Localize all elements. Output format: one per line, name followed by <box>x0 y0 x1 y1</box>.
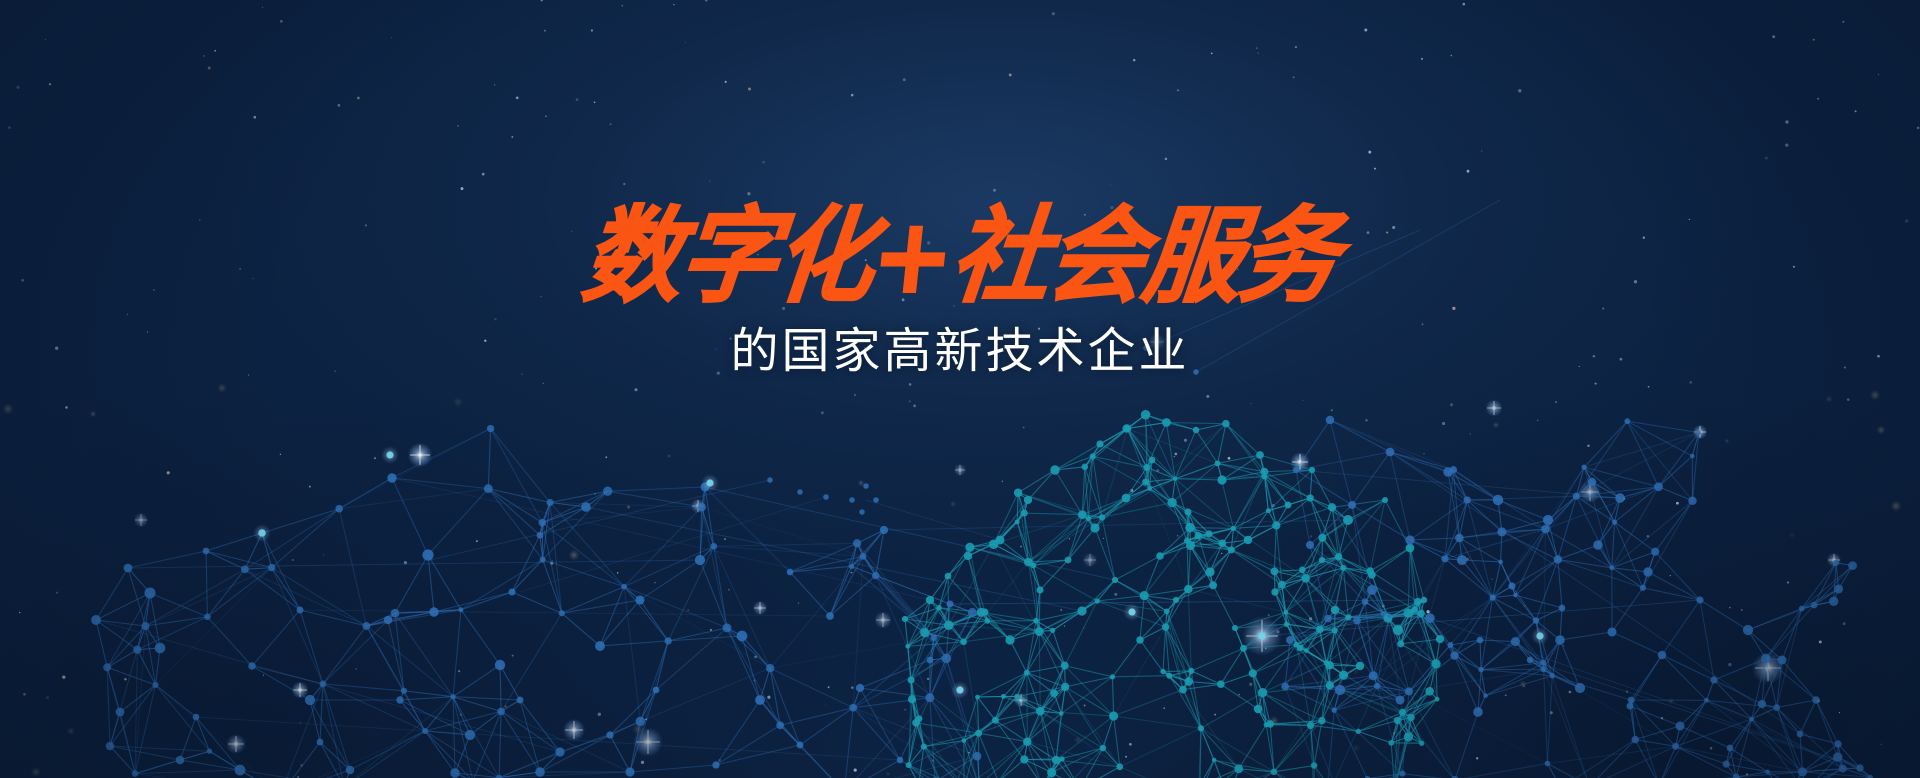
banner-stage: 数字化+社会服务 的国家高新技术企业 <box>0 0 1920 778</box>
banner-subheadline: 的国家高新技术企业 <box>0 326 1920 379</box>
banner-headline: 数字化+社会服务 <box>0 205 1920 311</box>
banner-text-block: 数字化+社会服务 的国家高新技术企业 <box>0 208 1920 379</box>
network-mesh-layer <box>0 0 1920 778</box>
